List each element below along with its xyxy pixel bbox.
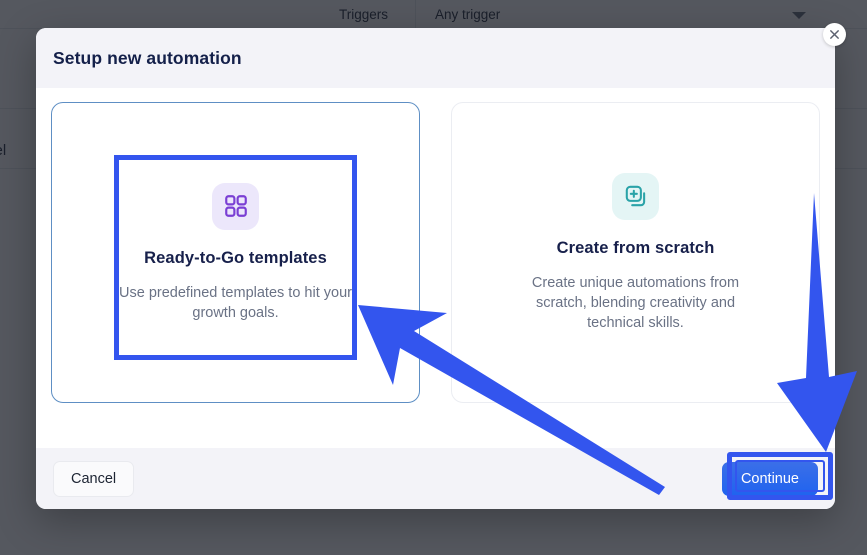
option-title: Create from scratch xyxy=(557,239,715,258)
setup-new-automation-modal: Setup new automation Ready-to-Go templat… xyxy=(36,28,835,509)
cancel-button[interactable]: Cancel xyxy=(53,461,134,497)
option-description: Use predefined templates to hit your gro… xyxy=(112,283,360,323)
option-description: Create unique automations from scratch, … xyxy=(512,273,760,333)
modal-footer: Cancel Continue xyxy=(36,448,835,509)
duplicate-plus-icon xyxy=(612,173,659,220)
continue-button[interactable]: Continue xyxy=(722,462,818,496)
grid-squares-icon xyxy=(212,183,259,230)
close-icon[interactable] xyxy=(823,23,846,46)
option-title: Ready-to-Go templates xyxy=(144,249,327,268)
modal-header: Setup new automation xyxy=(36,28,835,88)
option-card-ready-to-go-templates[interactable]: Ready-to-Go templates Use predefined tem… xyxy=(51,102,420,403)
page-title: Setup new automation xyxy=(53,48,242,69)
screen: Triggers Any trigger r reel Setup new au… xyxy=(0,0,867,555)
option-card-create-from-scratch[interactable]: Create from scratch Create unique automa… xyxy=(451,102,820,403)
modal-body: Ready-to-Go templates Use predefined tem… xyxy=(36,88,835,448)
